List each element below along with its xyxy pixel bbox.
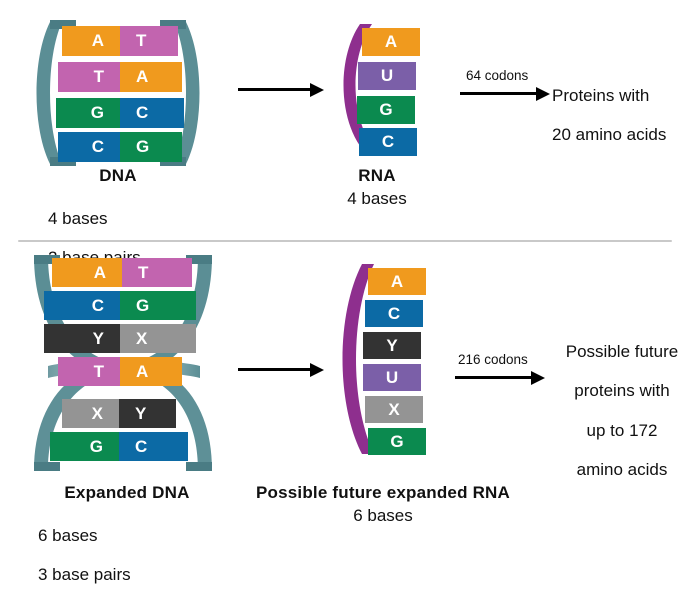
protein-product-bottom-line-2: proteins with bbox=[546, 381, 698, 401]
base-letter: T bbox=[58, 62, 120, 92]
expanded-dna-title: Expanded DNA bbox=[32, 483, 222, 503]
expanded-dna-caption: 6 bases 3 base pairs bbox=[38, 506, 208, 605]
arrow-dna-to-rna-top-line bbox=[238, 88, 312, 91]
base-letter: A bbox=[62, 26, 120, 56]
base-bar: A bbox=[368, 268, 426, 295]
base-letter: Y bbox=[119, 399, 176, 428]
base-bar: A bbox=[362, 28, 420, 56]
base-letter: G bbox=[56, 98, 120, 128]
base-pair-rung: GC bbox=[50, 432, 188, 461]
base-letter: A bbox=[368, 268, 426, 295]
section-divider bbox=[18, 240, 672, 242]
base-bar: U bbox=[363, 364, 421, 391]
base-letter: C bbox=[120, 98, 184, 128]
arrow-rna-to-protein-bottom-line bbox=[455, 376, 533, 379]
codons-label-bottom: 216 codons bbox=[458, 352, 528, 367]
arrow-dna-to-rna-bottom-head bbox=[310, 363, 324, 377]
base-letter: C bbox=[359, 128, 417, 156]
base-pair-rung: YX bbox=[44, 324, 196, 353]
base-letter: T bbox=[120, 26, 178, 56]
diagram-canvas: ATTAGCCG DNA 4 bases 2 base pairs AUGC R… bbox=[0, 0, 700, 562]
base-pair-rung: XY bbox=[62, 399, 176, 428]
base-bar: G bbox=[357, 96, 415, 124]
protein-product-top-line-2: 20 amino acids bbox=[552, 125, 698, 145]
base-pair-rung: AT bbox=[52, 258, 192, 287]
dna-title-top: DNA bbox=[48, 166, 188, 186]
base-pair-rung: CG bbox=[44, 291, 196, 320]
arrow-dna-to-rna-bottom-line bbox=[238, 368, 312, 371]
base-bar: U bbox=[358, 62, 416, 90]
dna-caption-line-1: 4 bases bbox=[48, 209, 208, 229]
base-letter: A bbox=[362, 28, 420, 56]
codons-label-top: 64 codons bbox=[466, 68, 528, 83]
base-letter: T bbox=[58, 357, 120, 386]
protein-product-bottom-line-3: up to 172 bbox=[546, 421, 698, 441]
rna-caption-top: 4 bases bbox=[322, 189, 432, 209]
base-letter: A bbox=[120, 357, 182, 386]
arrow-dna-to-rna-top-head bbox=[310, 83, 324, 97]
base-letter: A bbox=[120, 62, 182, 92]
arrow-rna-to-protein-top-head bbox=[536, 87, 550, 101]
base-letter: X bbox=[120, 324, 196, 353]
base-letter: A bbox=[52, 258, 122, 287]
arrow-rna-to-protein-bottom-head bbox=[531, 371, 545, 385]
base-letter: Y bbox=[363, 332, 421, 359]
base-pair-rung: AT bbox=[62, 26, 178, 56]
base-letter: Y bbox=[44, 324, 120, 353]
base-letter: X bbox=[365, 396, 423, 423]
rna-title-top: RNA bbox=[322, 166, 432, 186]
base-letter: U bbox=[363, 364, 421, 391]
base-pair-rung: GC bbox=[56, 98, 184, 128]
base-letter: C bbox=[365, 300, 423, 327]
base-pair-rung: CG bbox=[58, 132, 182, 162]
base-letter: G bbox=[120, 291, 196, 320]
base-letter: G bbox=[368, 428, 426, 455]
base-letter: C bbox=[119, 432, 188, 461]
protein-product-top: Proteins with 20 amino acids bbox=[552, 66, 698, 165]
expanded-dna-caption-line-1: 6 bases bbox=[38, 526, 208, 546]
base-bar: X bbox=[365, 396, 423, 423]
base-letter: G bbox=[50, 432, 119, 461]
protein-product-bottom-line-1: Possible future bbox=[546, 342, 698, 362]
base-letter: X bbox=[62, 399, 119, 428]
base-letter: G bbox=[120, 132, 182, 162]
protein-product-bottom: Possible future proteins with up to 172 … bbox=[546, 322, 698, 499]
base-letter: T bbox=[122, 258, 192, 287]
base-pair-rung: TA bbox=[58, 357, 182, 386]
protein-product-top-line-1: Proteins with bbox=[552, 86, 698, 106]
base-letter: C bbox=[44, 291, 120, 320]
expanded-rna-caption: 6 bases bbox=[238, 506, 528, 526]
expanded-rna-title: Possible future expanded RNA bbox=[238, 483, 528, 503]
base-pair-rung: TA bbox=[58, 62, 182, 92]
protein-product-bottom-line-4: amino acids bbox=[546, 460, 698, 480]
base-bar: C bbox=[365, 300, 423, 327]
base-letter: G bbox=[357, 96, 415, 124]
base-letter: U bbox=[358, 62, 416, 90]
base-letter: C bbox=[58, 132, 120, 162]
base-bar: G bbox=[368, 428, 426, 455]
expanded-dna-caption-line-2: 3 base pairs bbox=[38, 565, 208, 585]
base-bar: Y bbox=[363, 332, 421, 359]
base-bar: C bbox=[359, 128, 417, 156]
arrow-rna-to-protein-top-line bbox=[460, 92, 538, 95]
